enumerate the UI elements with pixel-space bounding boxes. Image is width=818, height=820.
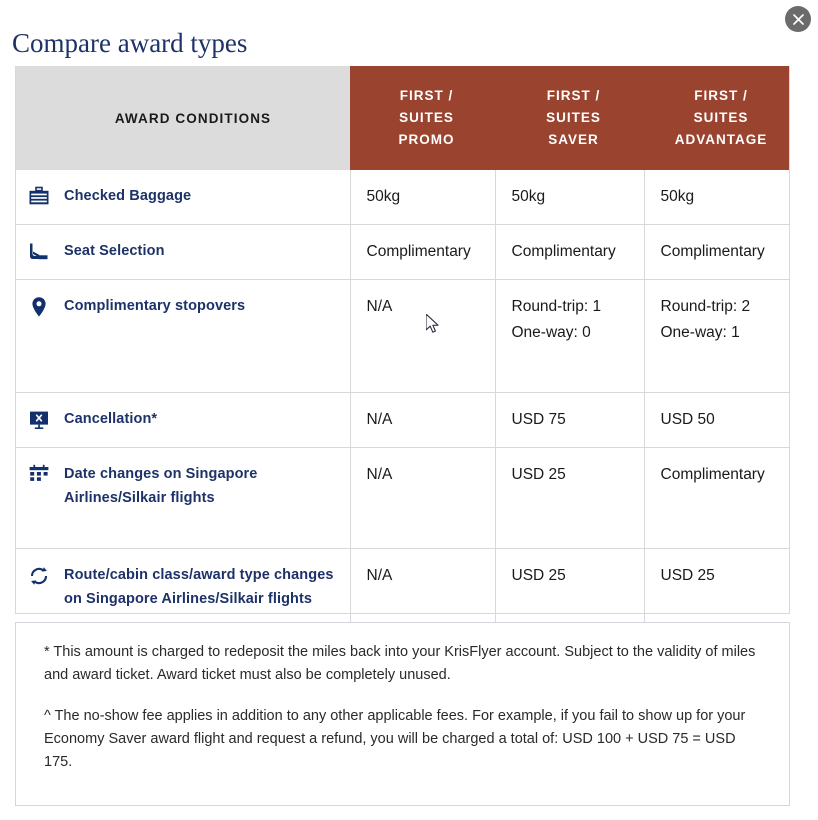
cell-value: Complimentary	[512, 239, 636, 265]
cell-advantage: Complimentary	[644, 448, 790, 549]
header-line-2: SUITES	[511, 107, 636, 129]
cell-value: 50kg	[661, 184, 783, 210]
cell-saver: Complimentary	[495, 225, 644, 280]
cell-promo: Complimentary	[350, 225, 495, 280]
cell-value: USD 25	[661, 563, 783, 589]
cell-promo: N/A	[350, 393, 495, 448]
row-label-text: Date changes on Singapore Airlines/Silka…	[64, 462, 340, 510]
close-icon	[792, 13, 805, 26]
cell-promo: N/A	[350, 448, 495, 549]
cell-value: N/A	[367, 294, 487, 320]
cell-promo: 50kg	[350, 170, 495, 225]
header-line-1: FIRST /	[511, 85, 636, 107]
cell-value: USD 25	[512, 462, 636, 488]
table-header: AWARD CONDITIONS FIRST / SUITES PROMO FI…	[15, 66, 790, 170]
header-award-conditions: AWARD CONDITIONS	[15, 66, 350, 170]
row-label-text: Route/cabin class/award type changes on …	[64, 563, 340, 611]
cell-value-line-1: Round-trip: 1	[512, 294, 636, 320]
cell-value: 50kg	[367, 184, 487, 210]
cell-value: Complimentary	[367, 239, 487, 265]
cell-value-line-2: One-way: 0	[512, 320, 636, 346]
header-line-2: SUITES	[660, 107, 782, 129]
row-label-text: Complimentary stopovers	[64, 294, 245, 318]
table-row: Date changes on Singapore Airlines/Silka…	[15, 448, 790, 549]
table-header-row: AWARD CONDITIONS FIRST / SUITES PROMO FI…	[15, 66, 790, 170]
row-label-checked-baggage: Checked Baggage	[15, 170, 350, 225]
table-row: Cancellation* N/A USD 75 USD 50	[15, 393, 790, 448]
table-row: Checked Baggage 50kg 50kg 50kg	[15, 170, 790, 225]
cell-saver: USD 25	[495, 448, 644, 549]
cell-value: N/A	[367, 407, 487, 433]
seat-icon	[27, 240, 51, 264]
cell-value: N/A	[367, 563, 487, 589]
footnotes-panel: * This amount is charged to redeposit th…	[15, 622, 790, 806]
header-line-3: PROMO	[366, 129, 487, 151]
table-row: Seat Selection Complimentary Complimenta…	[15, 225, 790, 280]
header-column-saver: FIRST / SUITES SAVER	[495, 66, 644, 170]
cell-value: Complimentary	[661, 239, 783, 265]
cell-advantage: Round-trip: 2 One-way: 1	[644, 280, 790, 393]
row-label-seat-selection: Seat Selection	[15, 225, 350, 280]
row-label-text: Cancellation*	[64, 407, 157, 431]
suitcase-icon	[27, 185, 51, 209]
header-line-1: FIRST /	[660, 85, 782, 107]
cell-advantage: Complimentary	[644, 225, 790, 280]
row-label-complimentary-stopovers: Complimentary stopovers	[15, 280, 350, 393]
row-label-text: Seat Selection	[64, 239, 165, 263]
header-line-2: SUITES	[366, 107, 487, 129]
cell-value: 50kg	[512, 184, 636, 210]
close-button[interactable]	[785, 6, 811, 32]
cell-saver: Round-trip: 1 One-way: 0	[495, 280, 644, 393]
cell-value-line-1: Round-trip: 2	[661, 294, 783, 320]
cell-value-line-2: One-way: 1	[661, 320, 783, 346]
header-line-1: FIRST /	[366, 85, 487, 107]
cell-value: USD 75	[512, 407, 636, 433]
table-row: Complimentary stopovers N/A Round-trip: …	[15, 280, 790, 393]
cell-advantage: USD 50	[644, 393, 790, 448]
cell-value: USD 50	[661, 407, 783, 433]
cancel-screen-icon	[27, 408, 51, 432]
cell-saver: USD 75	[495, 393, 644, 448]
footnote-asterisk: * This amount is charged to redeposit th…	[44, 641, 761, 687]
row-label-cancellation: Cancellation*	[15, 393, 350, 448]
cell-value: Complimentary	[661, 462, 783, 488]
header-line-3: ADVANTAGE	[660, 129, 782, 151]
header-column-promo: FIRST / SUITES PROMO	[350, 66, 495, 170]
cell-value: N/A	[367, 462, 487, 488]
footnote-caret: ^ The no-show fee applies in addition to…	[44, 705, 761, 774]
page-title: Compare award types	[12, 28, 247, 59]
cell-advantage: 50kg	[644, 170, 790, 225]
header-column-advantage: FIRST / SUITES ADVANTAGE	[644, 66, 790, 170]
cell-value: USD 25	[512, 563, 636, 589]
header-line-3: SAVER	[511, 129, 636, 151]
row-label-text: Checked Baggage	[64, 184, 191, 208]
cell-saver: 50kg	[495, 170, 644, 225]
row-label-date-changes: Date changes on Singapore Airlines/Silka…	[15, 448, 350, 549]
map-pin-icon	[27, 295, 51, 319]
calendar-icon	[27, 463, 51, 487]
cell-promo: N/A	[350, 280, 495, 393]
refresh-cycle-icon	[27, 564, 51, 588]
